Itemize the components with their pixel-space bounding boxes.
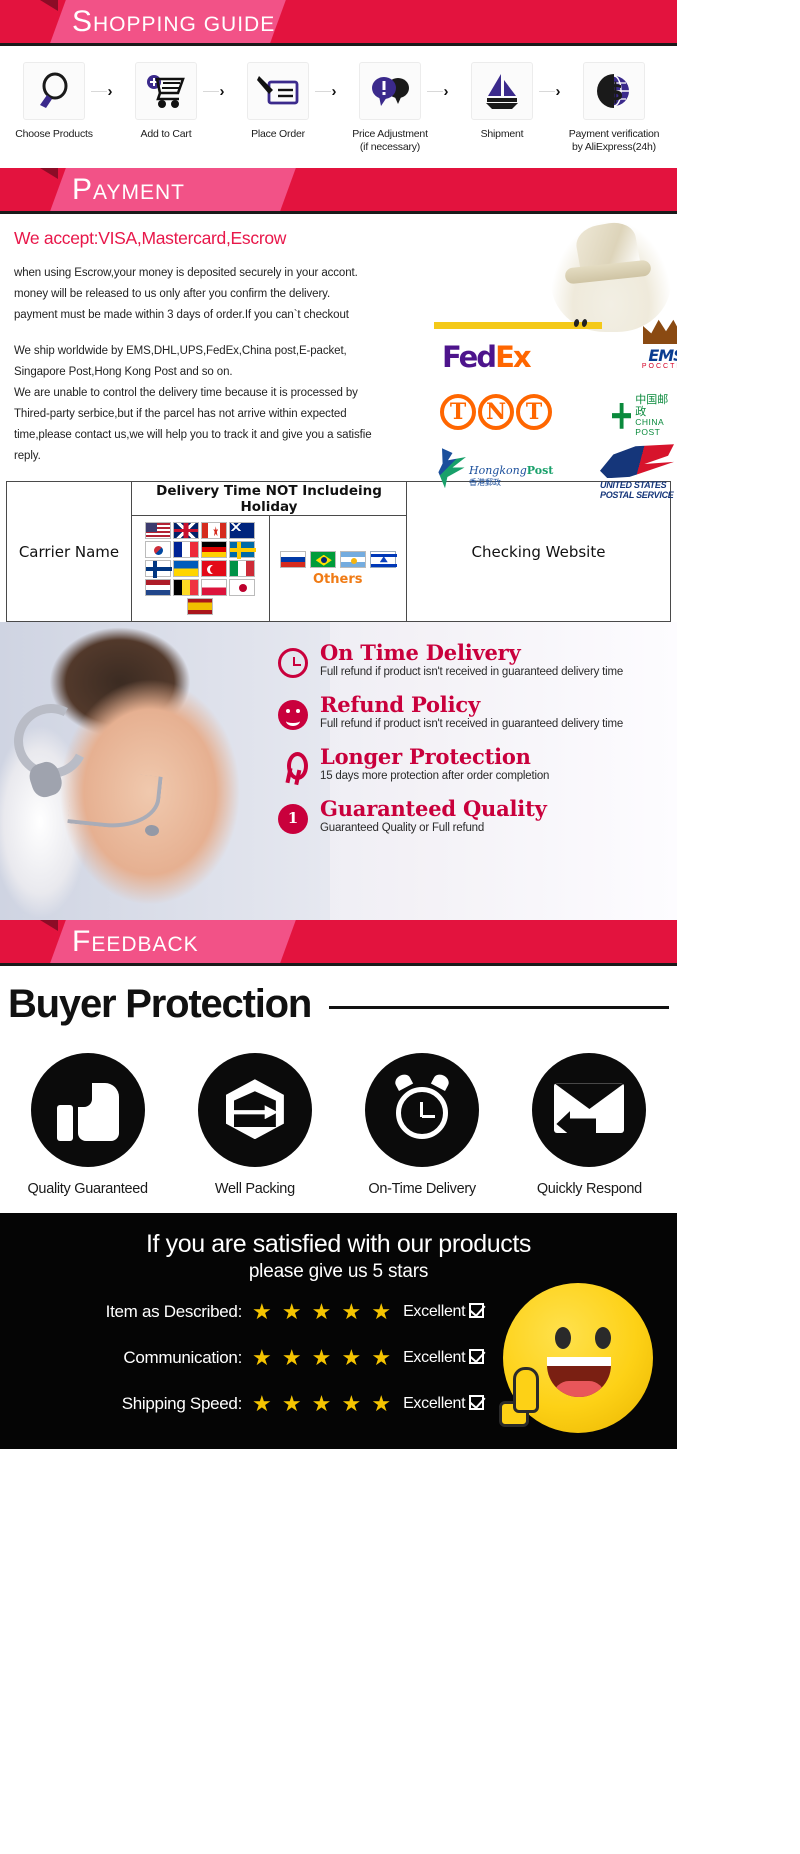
flag-fi-icon	[145, 560, 171, 577]
banner-rest-text: EEDBACK	[91, 933, 198, 956]
rating-subline: please give us 5 stars	[10, 1261, 667, 1283]
rating-verdict: Excellent	[403, 1395, 484, 1413]
banner-rest-text: AYMENT	[93, 181, 185, 204]
buyer-protection-title: Buyer Protection	[8, 982, 311, 1027]
checkbox-checked-icon[interactable]	[469, 1349, 484, 1364]
rating-label: Shipping Speed:	[92, 1394, 242, 1414]
svg-text:$: $	[607, 78, 624, 106]
shopping-cart-icon	[145, 73, 187, 109]
usps-eagle-icon	[600, 444, 674, 478]
banner-capital-letter: P	[72, 173, 93, 206]
ems-sub-text: POCCTEЯ	[618, 363, 677, 370]
service-text: Refund Policy Full refund if product isn…	[320, 694, 623, 730]
checking-website-header: Checking Website	[407, 482, 671, 622]
flag-us-icon	[145, 522, 171, 539]
flag-ar-icon	[340, 551, 366, 568]
emoji-eye-right	[595, 1327, 611, 1349]
step-icon-box	[247, 62, 309, 120]
service-item-refund-policy: Refund Policy Full refund if product isn…	[278, 694, 677, 730]
flag-ca-icon	[201, 522, 227, 539]
badge-circle	[31, 1053, 145, 1167]
flag-es-icon	[187, 598, 213, 615]
rating-headline: If you are satisfied with our products	[10, 1229, 667, 1260]
microphone-boom-icon	[67, 768, 162, 833]
ems-crown-icon	[643, 318, 677, 344]
flag-jp-icon	[229, 579, 255, 596]
shopping-guide-banner-label: SHOPPING GUIDE	[72, 0, 275, 43]
step-icon-box	[23, 62, 85, 120]
step-shipment[interactable]: Shipment	[456, 62, 548, 141]
flag-se-icon	[229, 541, 255, 558]
shipping-line: time,please contact us,we will help you …	[14, 425, 470, 446]
fedex-fed-text: Fed	[442, 340, 495, 374]
service-title: On Time Delivery	[320, 642, 623, 664]
buyer-protection-section: Buyer Protection Quality Guaranteed We	[0, 966, 677, 1213]
others-flag-row: Others	[274, 547, 403, 591]
flag-au-icon	[229, 522, 255, 539]
payment-banner-label: PAYMENT	[72, 168, 185, 211]
service-item-guaranteed-quality: Guaranteed Quality Guaranteed Quality or…	[278, 798, 677, 834]
flag-de-icon	[201, 541, 227, 558]
step-place-order[interactable]: Place Order	[232, 62, 324, 141]
badge-quickly-respond: Quickly Respond	[506, 1053, 673, 1197]
banner-capital-letter: S	[72, 5, 93, 38]
star-rating[interactable]: ★ ★ ★ ★ ★	[252, 1299, 393, 1325]
step-label: Payment verification by AliExpress(24h)	[568, 128, 660, 154]
usps-line2: POSTAL SERVICE	[600, 490, 677, 500]
flag-kr-icon	[145, 541, 171, 558]
feedback-banner: FEEDBACK	[0, 920, 677, 963]
package-box-icon	[222, 1077, 288, 1143]
paragraph-gap	[14, 326, 470, 341]
service-desc: Full refund if product isn't received in…	[320, 666, 623, 678]
payment-line: payment must be made within 3 days of or…	[14, 305, 470, 326]
hongkong-post-cn: 香港郵政	[469, 477, 553, 488]
buyer-protection-badges: Quality Guaranteed Well Packing On-	[0, 1027, 677, 1207]
rating-label: Item as Described:	[92, 1302, 242, 1322]
payment-banner: PAYMENT	[0, 168, 677, 211]
flag-nl-icon	[145, 579, 171, 596]
hongkong-post-logo: HongkongPost 香港郵政	[436, 448, 553, 488]
step-icon-box	[471, 62, 533, 120]
banner-capital-letter: F	[72, 925, 91, 958]
badge-label: Quickly Respond	[506, 1181, 673, 1197]
carrier-name-header: Carrier Name	[7, 482, 132, 622]
shipping-line: We are unable to control the delivery ti…	[14, 383, 470, 404]
ribbon-fold-icon	[40, 0, 58, 11]
step-payment-verification[interactable]: $ Payment verification by AliExpress(24h…	[568, 62, 660, 154]
badge-circle	[198, 1053, 312, 1167]
flag-fr-icon	[173, 541, 199, 558]
badge-label: Well Packing	[171, 1181, 338, 1197]
step-icon-box: $	[583, 62, 645, 120]
other-countries-cell: Others	[269, 516, 407, 622]
chevron-right-icon: ›	[100, 62, 120, 120]
rating-verdict: Excellent	[403, 1349, 484, 1367]
service-item-longer-protection: Longer Protection 15 days more protectio…	[278, 746, 677, 782]
rating-request-panel: If you are satisfied with our products p…	[0, 1213, 677, 1440]
service-items-list: On Time Delivery Full refund if product …	[278, 642, 677, 850]
flag-ru-icon	[280, 551, 306, 568]
china-post-mark-icon	[612, 403, 631, 429]
magnifier-icon	[34, 72, 74, 110]
step-label: Place Order	[232, 128, 324, 141]
award-ribbon-icon	[278, 752, 308, 782]
fedex-ex-text: Ex	[495, 340, 530, 374]
flag-pl-icon	[201, 579, 227, 596]
smiling-thumbs-up-emoji	[503, 1283, 653, 1433]
flag-it-icon	[229, 560, 255, 577]
service-desc: Full refund if product isn't received in…	[320, 718, 623, 730]
smiley-icon	[278, 700, 308, 730]
service-text: On Time Delivery Full refund if product …	[320, 642, 623, 678]
carrier-logos-panel: FedEx EMS POCCTEЯ T N T 中国邮政 CHINA POST	[432, 222, 677, 502]
globe-dollar-icon: $	[595, 72, 633, 110]
chevron-right-icon: ›	[548, 62, 568, 120]
tnt-letter: T	[440, 394, 476, 430]
flag-uk-icon	[173, 522, 199, 539]
shipping-line: We ship worldwide by EMS,DHL,UPS,FedEx,C…	[14, 341, 470, 362]
payment-line: when using Escrow,your money is deposite…	[14, 263, 470, 284]
flag-tr-icon	[201, 560, 227, 577]
step-icon-box	[135, 62, 197, 120]
step-label: Price Adjustment (if necessary)	[344, 128, 436, 154]
delivery-time-header: Delivery Time NOT Includeing Holiday	[132, 482, 407, 516]
verdict-text: Excellent	[403, 1395, 465, 1412]
payment-line: money will be released to us only after …	[14, 284, 470, 305]
product-detail-page: SHOPPING GUIDE Choose Products ›	[0, 0, 800, 1449]
service-desc: Guaranteed Quality or Full refund	[320, 822, 547, 834]
tnt-letter: T	[516, 394, 552, 430]
badge-on-time-delivery: On-Time Delivery	[339, 1053, 506, 1197]
shipping-line: reply.	[14, 446, 470, 467]
speech-bubble-icon	[368, 74, 412, 108]
service-guarantee-section: On Time Delivery Full refund if product …	[0, 622, 677, 920]
checkbox-checked-icon[interactable]	[469, 1395, 484, 1410]
hkpost-en2: Post	[527, 464, 554, 477]
star-rating[interactable]: ★ ★ ★ ★ ★	[252, 1345, 393, 1371]
medal-number-one-icon	[278, 804, 308, 834]
star-rating[interactable]: ★ ★ ★ ★ ★	[252, 1391, 393, 1417]
delivery-time-table: Carrier Name Delivery Time NOT Includein…	[6, 481, 671, 622]
emoji-mouth	[547, 1357, 611, 1397]
service-desc: 15 days more protection after order comp…	[320, 770, 549, 782]
primary-flag-row	[136, 522, 265, 615]
eyes-decoration-icon	[574, 314, 590, 332]
service-title: Guaranteed Quality	[320, 798, 547, 820]
tnt-logo: T N T	[440, 394, 552, 430]
flag-ua-icon	[173, 560, 199, 577]
badge-label: Quality Guaranteed	[4, 1181, 171, 1197]
rating-verdict: Excellent	[403, 1303, 484, 1321]
badge-circle	[365, 1053, 479, 1167]
badge-well-packing: Well Packing	[171, 1053, 338, 1197]
alarm-clock-icon	[389, 1075, 455, 1145]
verdict-text: Excellent	[403, 1303, 465, 1320]
step-label: Shipment	[456, 128, 548, 141]
fedex-logo: FedEx	[442, 340, 530, 374]
china-post-cn: 中国邮政	[635, 394, 677, 418]
shopping-guide-banner: SHOPPING GUIDE	[0, 0, 677, 43]
hkpost-en1: Hongkong	[469, 464, 527, 477]
hongkong-post-bird-icon	[436, 448, 466, 488]
ribbon-fold-icon	[40, 168, 58, 179]
ems-logo: EMS POCCTEЯ	[618, 318, 677, 370]
others-label: Others	[313, 572, 363, 587]
hongkong-post-name: HongkongPost	[469, 464, 553, 477]
primary-countries-cell	[132, 516, 270, 622]
step-price-adjustment[interactable]: Price Adjustment (if necessary)	[344, 62, 436, 154]
payment-description: when using Escrow,your money is deposite…	[0, 253, 470, 475]
verdict-text: Excellent	[403, 1349, 465, 1366]
rating-label: Communication:	[92, 1348, 242, 1368]
step-add-to-cart[interactable]: Add to Cart	[120, 62, 212, 141]
feedback-banner-label: FEEDBACK	[72, 920, 199, 963]
service-text: Guaranteed Quality Guaranteed Quality or…	[320, 798, 547, 834]
china-post-en: CHINA POST	[635, 418, 677, 437]
china-post-text: 中国邮政 CHINA POST	[635, 394, 677, 437]
badge-quality-guaranteed: Quality Guaranteed	[4, 1053, 171, 1197]
emoji-eye-left	[555, 1327, 571, 1349]
service-title: Refund Policy	[320, 694, 623, 716]
usps-logo: UNITED STATES POSTAL SERVICE	[600, 444, 677, 500]
china-post-logo: 中国邮政 CHINA POST	[612, 394, 677, 437]
shopping-steps: Choose Products › Add to Cart ›	[0, 46, 677, 168]
step-icon-box	[359, 62, 421, 120]
chevron-right-icon: ›	[212, 62, 232, 120]
money-sack-image	[551, 222, 671, 332]
shipping-line: Thired-party serbice,but if the parcel h…	[14, 404, 470, 425]
page-content: SHOPPING GUIDE Choose Products ›	[0, 0, 677, 1449]
header-rule	[329, 1006, 669, 1009]
step-label: Add to Cart	[120, 128, 212, 141]
flag-il-icon	[370, 551, 396, 568]
pen-order-icon	[256, 73, 300, 109]
service-text: Longer Protection 15 days more protectio…	[320, 746, 549, 782]
flag-br-icon	[310, 551, 336, 568]
checkbox-checked-icon[interactable]	[469, 1303, 484, 1318]
thumbs-up-icon	[57, 1079, 119, 1141]
badge-circle	[532, 1053, 646, 1167]
payment-section: We accept:VISA,Mastercard,Escrow when us…	[0, 214, 677, 475]
panel-bottom-fill	[0, 1441, 677, 1449]
buyer-protection-header: Buyer Protection	[0, 982, 677, 1027]
service-title: Longer Protection	[320, 746, 549, 768]
usps-line1: UNITED STATES	[600, 480, 677, 490]
shipping-line: Singapore Post,Hong Kong Post and so on.	[14, 362, 470, 383]
clock-icon	[278, 648, 308, 678]
badge-label: On-Time Delivery	[339, 1181, 506, 1197]
ribbon-fold-icon	[40, 920, 58, 931]
step-label: Choose Products	[8, 128, 100, 141]
banner-rest-text: HOPPING GUIDE	[93, 13, 275, 36]
flag-be-icon	[173, 579, 199, 596]
tnt-letter: N	[478, 394, 514, 430]
sack-tie	[564, 260, 651, 285]
chevron-right-icon: ›	[324, 62, 344, 120]
sailboat-icon	[482, 72, 522, 110]
envelope-reply-icon	[554, 1083, 624, 1137]
hongkong-post-text: HongkongPost 香港郵政	[469, 464, 553, 488]
emoji-thumb-icon	[499, 1363, 551, 1427]
chevron-right-icon: ›	[436, 62, 456, 120]
service-item-on-time-delivery: On Time Delivery Full refund if product …	[278, 642, 677, 678]
step-choose-products[interactable]: Choose Products	[8, 62, 100, 141]
